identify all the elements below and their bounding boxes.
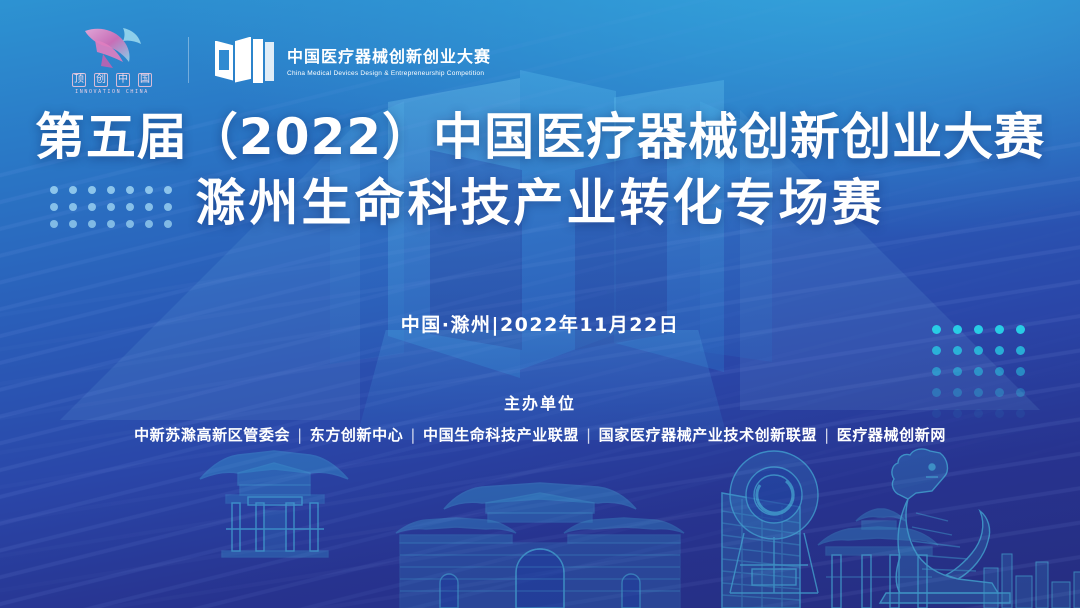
grid-dot xyxy=(974,367,983,376)
grid-dot xyxy=(995,367,1004,376)
chinese-pavilion-gate xyxy=(200,451,348,557)
innovation-china-logo: 顶 创 中 国 INNOVATION CHINA xyxy=(62,24,162,95)
grid-dot xyxy=(995,346,1004,355)
dot-grid-right-icon xyxy=(932,325,1042,435)
innovation-china-en-text: INNOVATION CHINA xyxy=(75,89,149,95)
open-book-door-icon xyxy=(215,35,275,85)
logo-char-2: 中 xyxy=(116,73,130,87)
grid-dot xyxy=(974,346,983,355)
competition-logo: 中国医疗器械创新创业大赛 China Medical Devices Desig… xyxy=(215,35,491,85)
page-title-line1: 第五届（2022）中国医疗器械创新创业大赛 xyxy=(0,108,1080,166)
city-skyline-buildings-icon xyxy=(980,528,1080,608)
logo-char-3: 国 xyxy=(138,73,152,87)
competition-logo-en-title: China Medical Devices Design & Entrepren… xyxy=(287,70,491,77)
grid-dot xyxy=(1016,367,1025,376)
grid-dot xyxy=(932,346,941,355)
grid-dot xyxy=(1016,346,1025,355)
competition-logo-cn-title: 中国医疗器械创新创业大赛 xyxy=(287,43,491,67)
event-location-date: 中国·滁州|2022年11月22日 xyxy=(0,310,1080,337)
innovation-china-cn-chars: 顶 创 中 国 xyxy=(72,73,152,87)
logo-char-0: 顶 xyxy=(72,73,86,87)
logo-divider xyxy=(188,37,189,83)
ring-sculpture-icon xyxy=(700,433,860,608)
city-skyline-illustration xyxy=(0,433,1080,608)
hero-titles: 第五届（2022）中国医疗器械创新创业大赛 滁州生命科技产业转化专场赛 xyxy=(0,108,1080,232)
header-logos: 顶 创 中 国 INNOVATION CHINA 中国医疗器械创新创业大赛 Ch… xyxy=(62,24,491,95)
grid-dot xyxy=(953,367,962,376)
event-banner: 顶 创 中 国 INNOVATION CHINA 中国医疗器械创新创业大赛 Ch… xyxy=(0,0,1080,608)
grid-dot xyxy=(953,346,962,355)
chinese-city-wall-gate xyxy=(396,483,684,608)
phoenix-bird-icon xyxy=(79,24,145,70)
logo-char-1: 创 xyxy=(94,73,108,87)
page-title-line2: 滁州生命科技产业转化专场赛 xyxy=(0,174,1080,232)
organizers-heading: 主办单位 xyxy=(0,390,1080,414)
grid-dot xyxy=(932,367,941,376)
